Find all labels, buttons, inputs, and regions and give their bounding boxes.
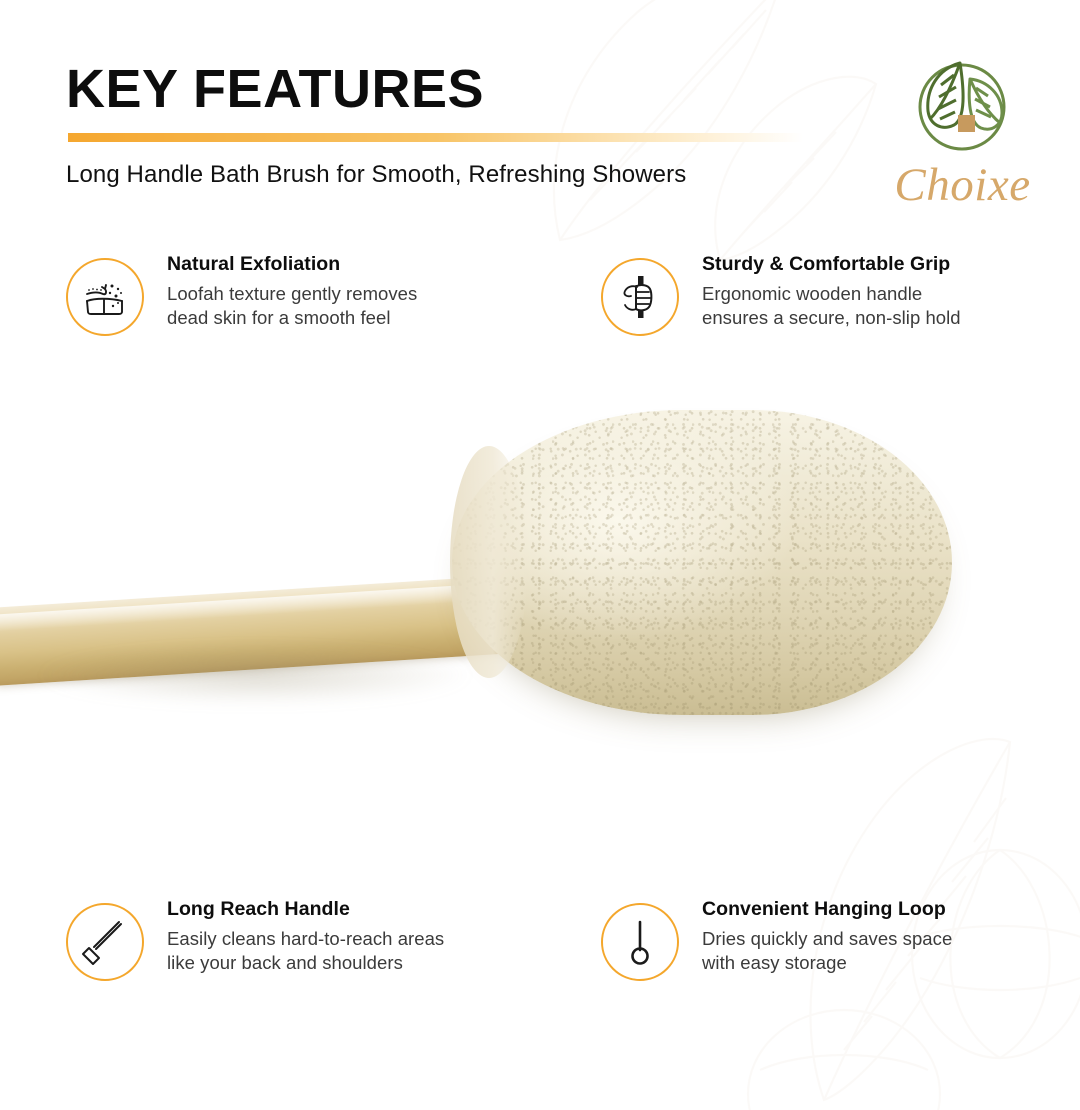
hanging-loop-icon: [615, 917, 665, 967]
feature-long-reach-handle: Long Reach Handle Easily cleans hard-to-…: [66, 897, 536, 1007]
brand-wordmark: Choixe: [880, 158, 1045, 212]
title-divider: [68, 133, 803, 142]
feature-sturdy-comfortable-grip: Sturdy & Comfortable Grip Ergonomic wood…: [601, 252, 1071, 362]
feature-title: Convenient Hanging Loop: [702, 897, 1072, 922]
hanging-loop-icon-circle: [601, 903, 679, 981]
feature-description: Ergonomic wooden handle ensures a secure…: [702, 282, 1072, 331]
feature-convenient-hanging-loop: Convenient Hanging Loop Dries quickly an…: [601, 897, 1071, 1007]
feature-text: Long Reach Handle Easily cleans hard-to-…: [167, 897, 537, 975]
exfoliation-skin-icon-circle: [66, 258, 144, 336]
feature-text: Convenient Hanging Loop Dries quickly an…: [702, 897, 1072, 975]
loofah-end-face: [450, 446, 528, 678]
two-leaves-in-circle-logo-icon: [908, 55, 1016, 160]
feature-title: Sturdy & Comfortable Grip: [702, 252, 1072, 277]
hand-grip-icon: [615, 272, 665, 322]
long-handle-brush-icon-circle: [66, 903, 144, 981]
hand-grip-icon-circle: [601, 258, 679, 336]
page-title: KEY FEATURES: [66, 62, 484, 116]
exfoliation-skin-icon: [80, 272, 130, 322]
product-photo: [0, 380, 1080, 810]
product-shadow: [40, 646, 470, 704]
long-handle-brush-icon: [80, 917, 130, 967]
feature-description: Easily cleans hard-to-reach areas like y…: [167, 927, 537, 976]
feature-description: Dries quickly and saves space with easy …: [702, 927, 1072, 976]
brand-logo: Choixe: [880, 55, 1045, 220]
loofah-head: [452, 410, 952, 715]
feature-text: Sturdy & Comfortable Grip Ergonomic wood…: [702, 252, 1072, 330]
feature-title: Long Reach Handle: [167, 897, 537, 922]
feature-description: Loofah texture gently removes dead skin …: [167, 282, 537, 331]
feature-text: Natural Exfoliation Loofah texture gentl…: [167, 252, 537, 330]
feature-title: Natural Exfoliation: [167, 252, 537, 277]
page-subtitle: Long Handle Bath Brush for Smooth, Refre…: [66, 161, 686, 189]
feature-natural-exfoliation: Natural Exfoliation Loofah texture gentl…: [66, 252, 536, 362]
